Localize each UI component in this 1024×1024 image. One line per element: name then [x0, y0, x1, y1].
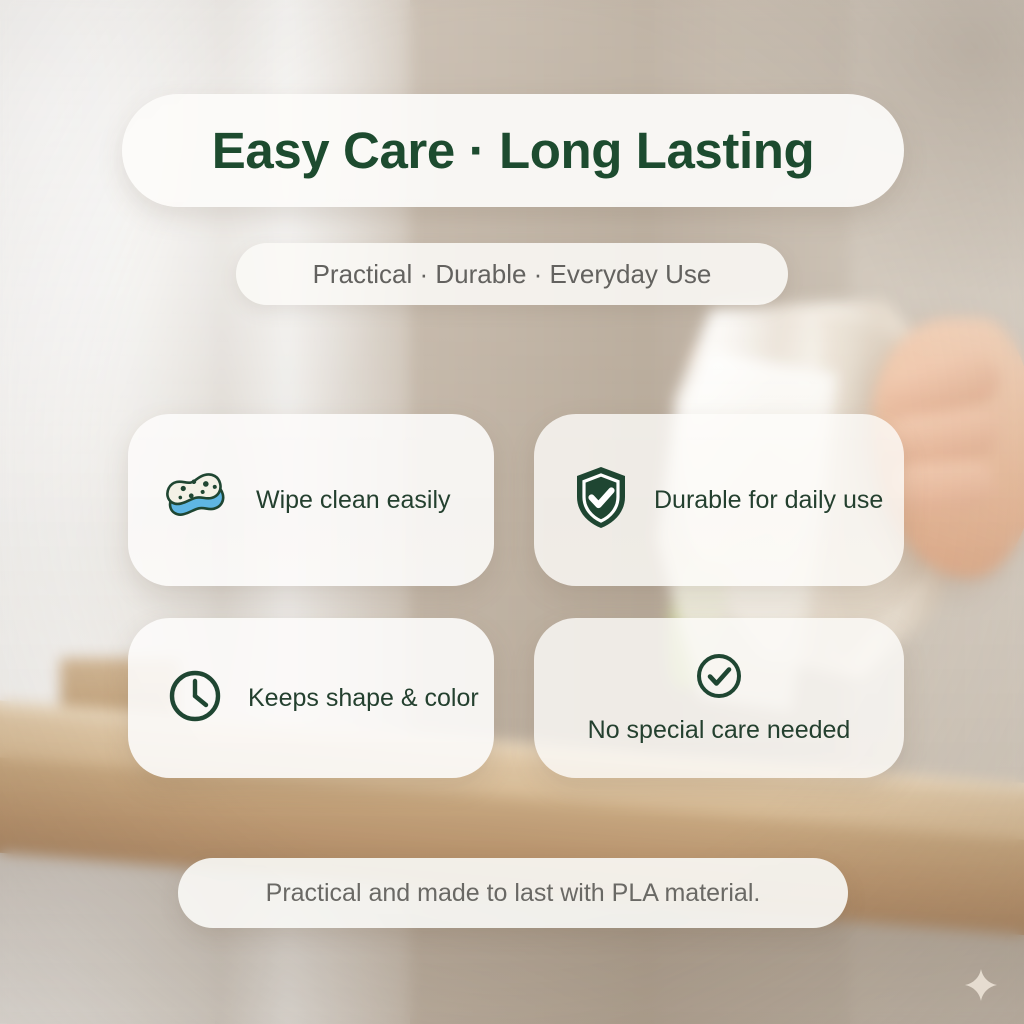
sponge-icon [166, 469, 232, 532]
feature-card-durable[interactable]: Durable for daily use [534, 414, 904, 586]
page-title: Easy Care · Long Lasting [212, 121, 815, 180]
subtitle-pill: Practical · Durable · Everyday Use [236, 243, 788, 305]
feature-label: No special care needed [588, 716, 851, 745]
footer-pill: Practical and made to last with PLA mate… [178, 858, 848, 928]
sparkle-icon [964, 968, 998, 1002]
feature-card-no-special-care[interactable]: No special care needed [534, 618, 904, 778]
check-circle-icon [694, 651, 744, 706]
feature-label: Wipe clean easily [256, 486, 451, 515]
content-overlay: Easy Care · Long Lasting Practical · Dur… [0, 0, 1024, 1024]
feature-label: Durable for daily use [654, 486, 883, 515]
clock-icon [166, 667, 224, 730]
page-subtitle: Practical · Durable · Everyday Use [313, 259, 712, 290]
shield-check-icon [572, 465, 630, 536]
feature-card-keeps-shape[interactable]: Keeps shape & color [128, 618, 494, 778]
feature-label: Keeps shape & color [248, 684, 479, 713]
feature-card-wipe-clean[interactable]: Wipe clean easily [128, 414, 494, 586]
title-pill: Easy Care · Long Lasting [122, 94, 904, 207]
footer-note: Practical and made to last with PLA mate… [266, 879, 761, 908]
